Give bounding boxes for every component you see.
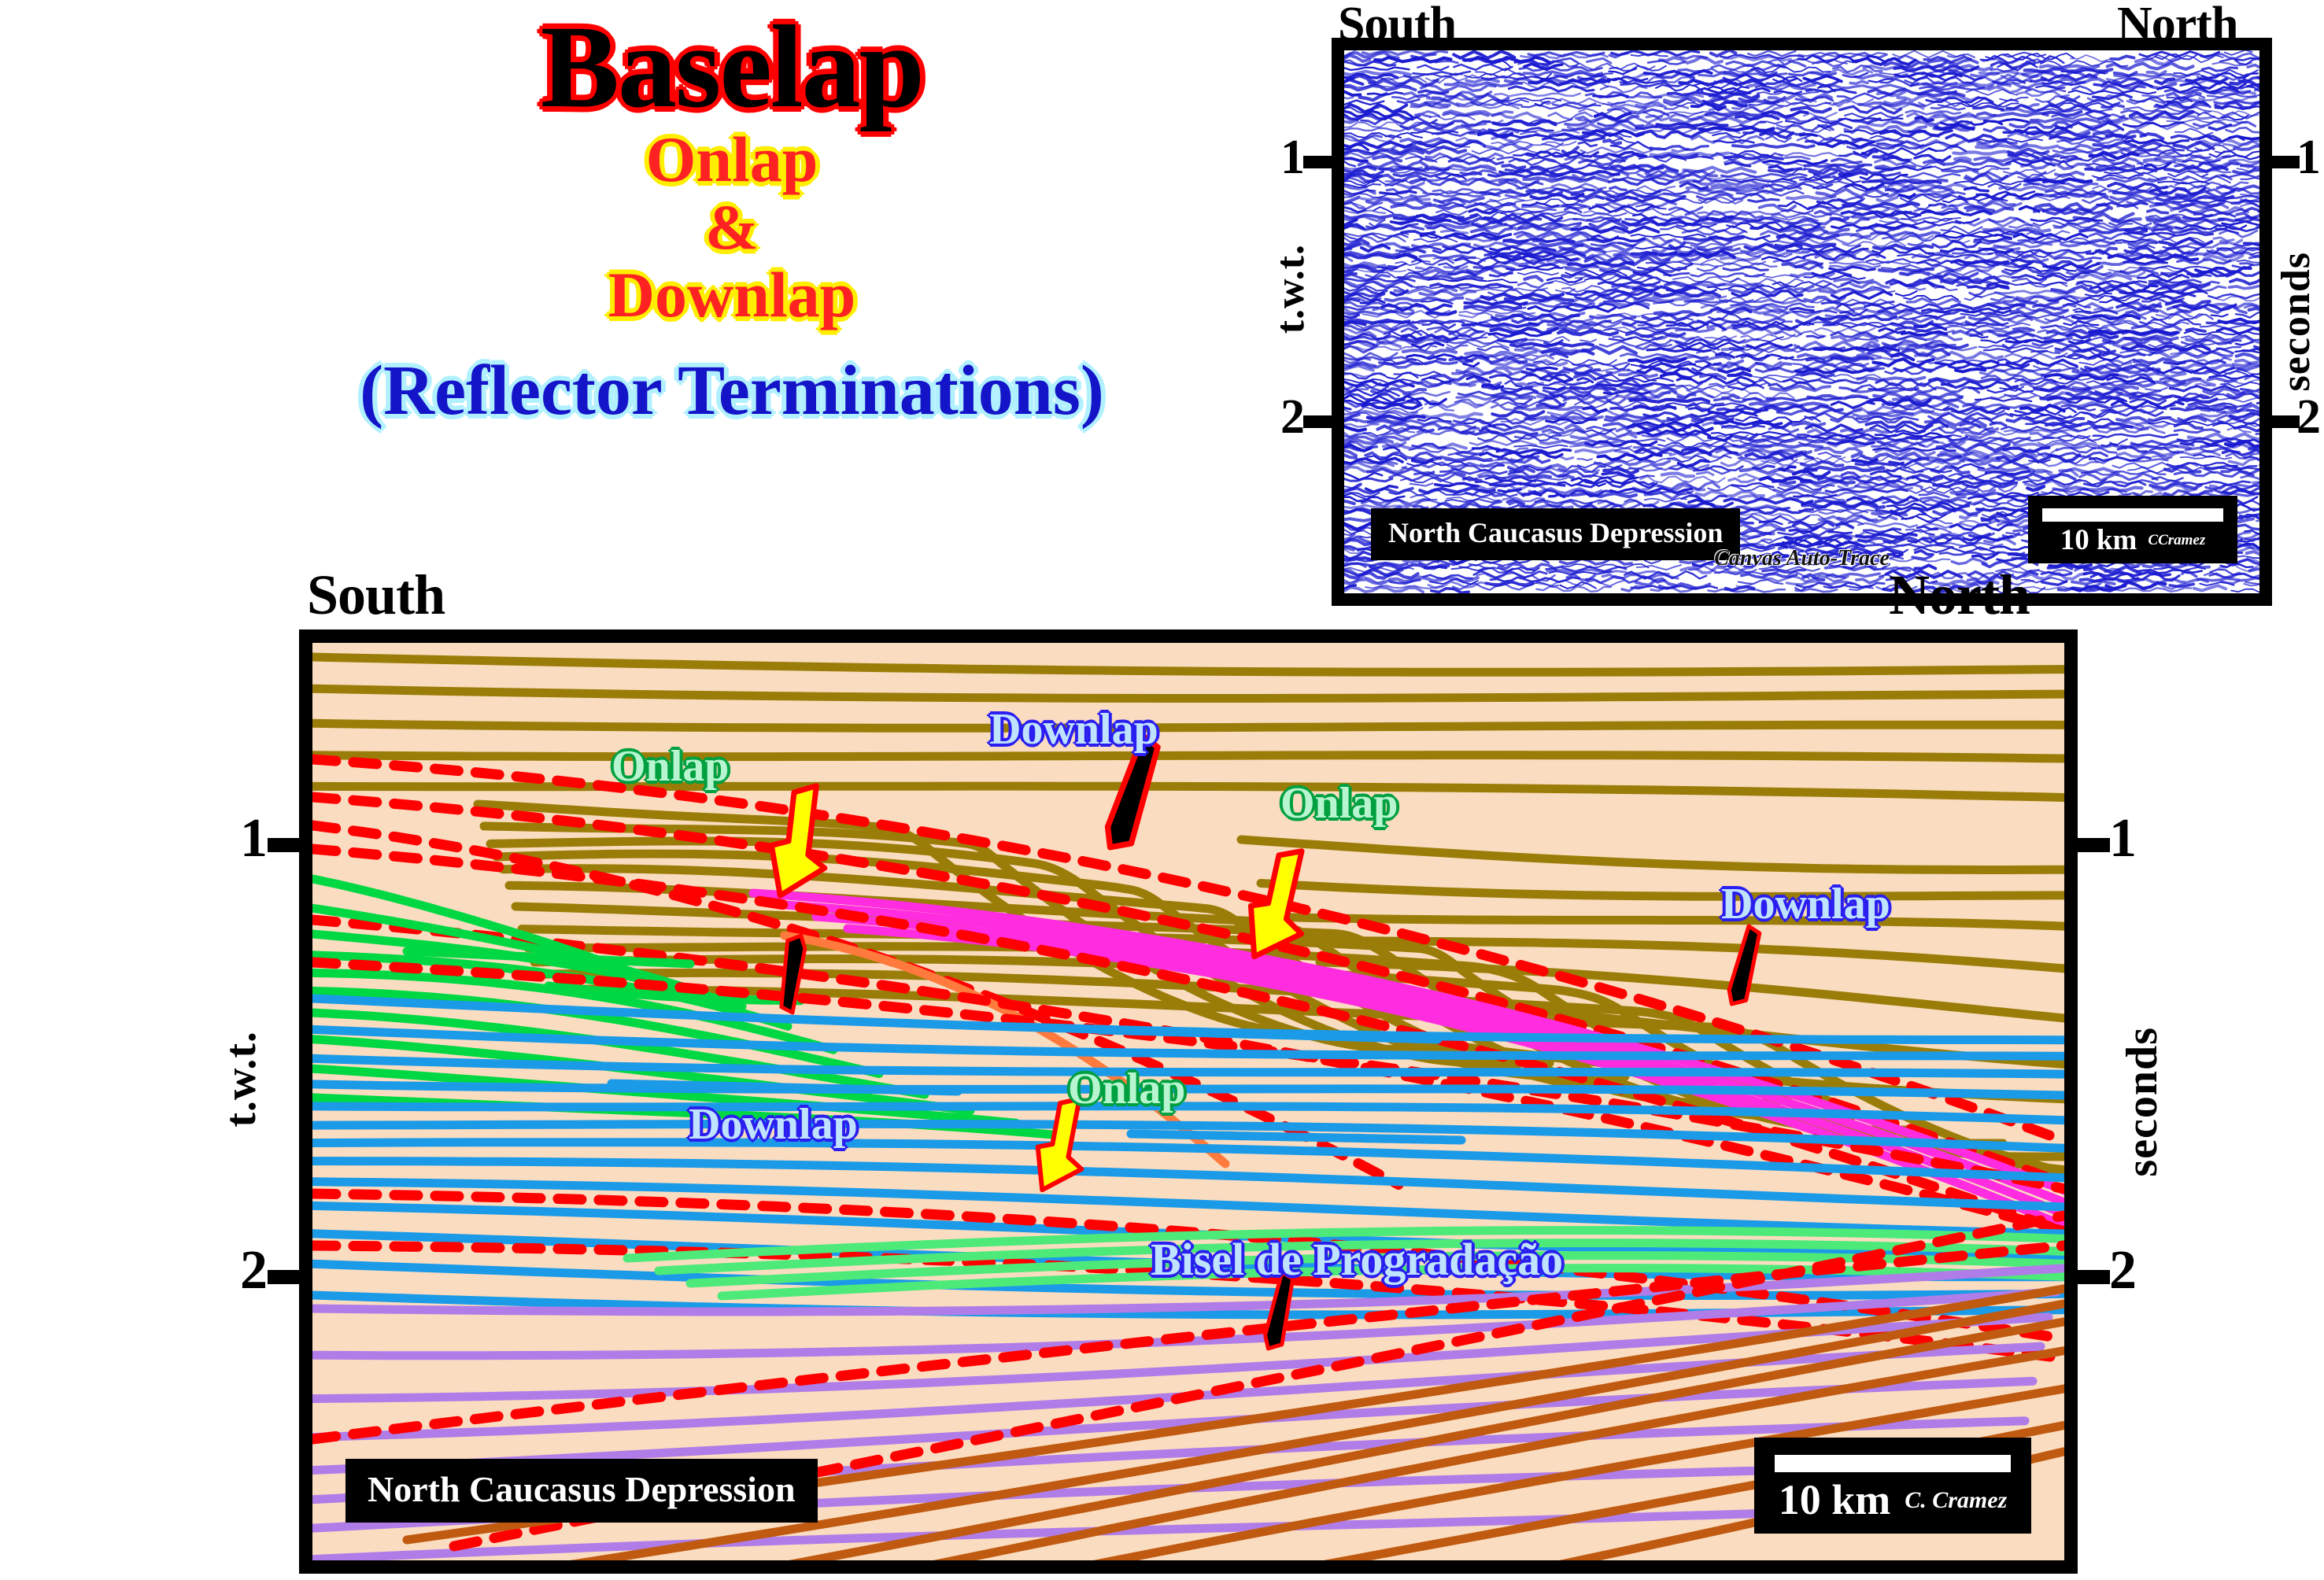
interp-tick-1-right: 1 [2109, 807, 2137, 870]
interpretation-drawing: Onlap Downlap Onlap Downlap Downlap Onla… [312, 643, 2064, 1560]
subtitle-reflector-terminations: (Reflector Terminations) [236, 356, 1228, 426]
seismic-axis-right-title: seconds [2273, 252, 2319, 391]
seismic-tick-1-left: 1 [1280, 130, 1305, 186]
page-title: Baselap [236, 8, 1228, 126]
seismic-watermark: Canvas Auto-Trace [1714, 546, 1890, 571]
anno-onlap-center: Onlap [1068, 1064, 1185, 1114]
seismic-credit: CCramez [2148, 532, 2205, 549]
interp-north-label: North [1889, 563, 2030, 628]
interp-tick-2-right: 2 [2109, 1239, 2137, 1302]
seismic-axis-left-title: t.w.t. [1267, 244, 1313, 334]
interp-caption-text: North Caucasus Depression [368, 1469, 796, 1509]
seismic-tick-1-right: 1 [2296, 130, 2321, 186]
interp-axis-left-title: t.w.t. [216, 1031, 266, 1128]
interp-south-label: South [307, 563, 445, 628]
seismic-scale-bar: 10 kmCCramez [2028, 496, 2237, 563]
subtitle-ampersand: & [236, 194, 1228, 261]
seismic-scale-label: 10 km [2060, 523, 2137, 557]
anno-downlap-upper-mid: Downlap [989, 704, 1158, 755]
interp-caption-box: North Caucasus Depression [345, 1459, 818, 1523]
anno-bisel-progradacao: Bisel de Progradação [1151, 1233, 1563, 1286]
seismic-caption-box: North Caucasus Depression [1371, 508, 1740, 560]
interp-credit: C. Cramez [1905, 1487, 2007, 1514]
anno-onlap-upper-left: Onlap [611, 741, 729, 792]
seismic-scale-bar-line [2042, 508, 2223, 522]
interp-tick-2-left: 2 [240, 1239, 268, 1302]
title-block: Baselap Onlap & Downlap (Reflector Termi… [236, 8, 1228, 426]
anno-onlap-upper-right: Onlap [1280, 778, 1398, 829]
seismic-caption-text: North Caucasus Depression [1388, 517, 1723, 548]
interp-scale-bar: 10 kmC. Cramez [1754, 1438, 2031, 1534]
interp-scale-label: 10 km [1779, 1475, 1891, 1524]
anno-downlap-left-mid: Downlap [689, 1099, 858, 1150]
anno-downlap-right: Downlap [1721, 879, 1890, 929]
interp-scale-bar-line [1775, 1455, 2011, 1472]
interp-axis-right-title: seconds [2117, 1027, 2167, 1177]
interp-tick-mark-1-right [2072, 838, 2110, 852]
seismic-tick-2-left: 2 [1280, 389, 1305, 445]
seismic-tick-2-right: 2 [2296, 389, 2321, 445]
reflector-lines [312, 643, 2064, 1560]
seismic-section-panel[interactable]: North Caucasus Depression Canvas Auto-Tr… [1332, 38, 2272, 606]
interpretation-panel[interactable]: Onlap Downlap Onlap Downlap Downlap Onla… [299, 629, 2078, 1574]
subtitle-onlap: Onlap [236, 126, 1228, 194]
interp-tick-mark-2-right [2072, 1270, 2110, 1284]
subtitle-downlap: Downlap [236, 261, 1228, 329]
interp-tick-1-left: 1 [240, 807, 268, 870]
seismic-image: North Caucasus Depression Canvas Auto-Tr… [1344, 50, 2259, 593]
